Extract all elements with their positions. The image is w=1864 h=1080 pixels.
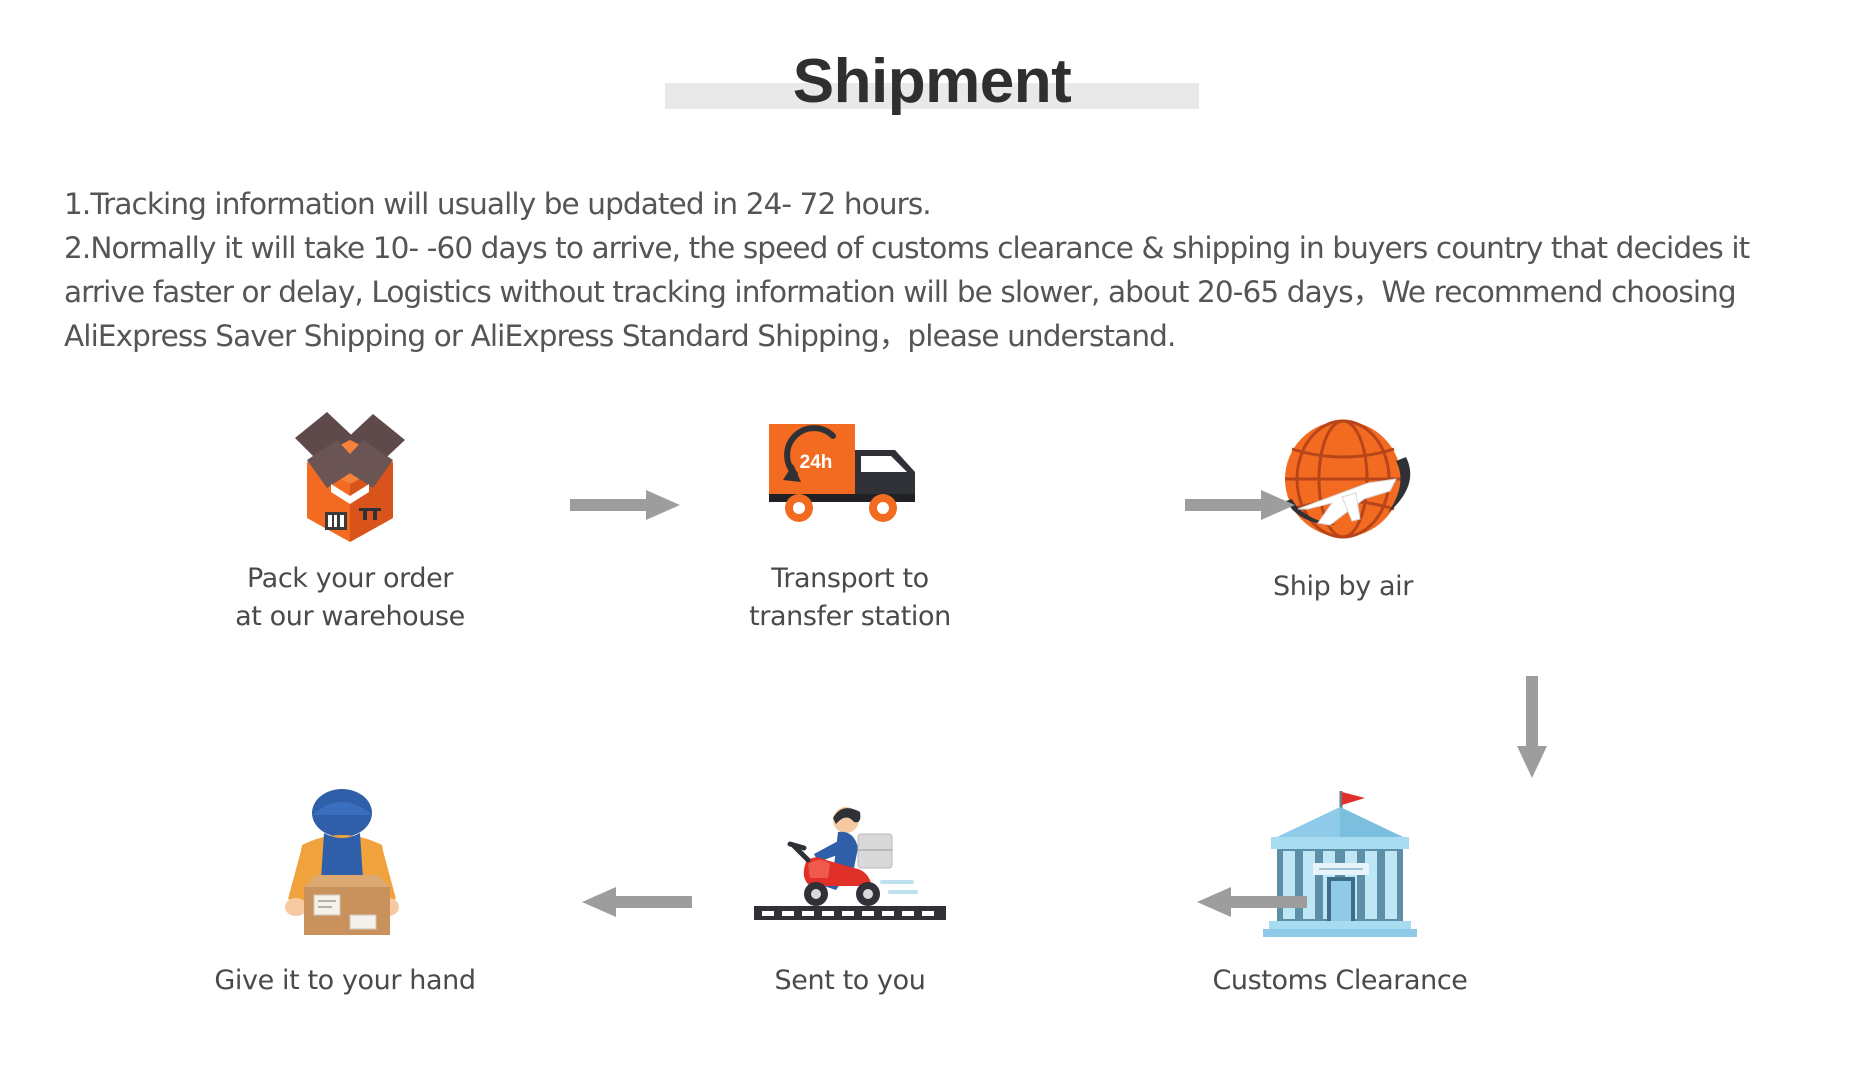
flow-step-label: Ship by air — [1193, 568, 1493, 606]
globe-airplane-icon — [1193, 408, 1493, 558]
flow-step-label: Pack your order at our warehouse — [200, 560, 500, 636]
arrow-right-2 — [1185, 488, 1297, 522]
flow-step-label: Sent to you — [700, 962, 1000, 1000]
page-title-block: Shipment — [0, 46, 1864, 138]
note-line-2: 2.Normally it will take 10- -60 days to … — [64, 226, 1804, 358]
flow-row-1: Pack your order at our warehouse — [0, 400, 1864, 630]
arrow-right-1 — [570, 488, 682, 522]
flow-step-transport: 24h Transport to transfer station — [700, 400, 1000, 636]
shipment-flow-diagram: Pack your order at our warehouse — [0, 400, 1864, 1020]
courier-handing-parcel-icon — [195, 790, 495, 940]
flow-step-label: Transport to transfer station — [700, 560, 1000, 636]
scooter-delivery-icon — [700, 790, 1000, 940]
arrow-left-1 — [580, 885, 692, 919]
shipment-infographic: Shipment 1.Tracking information will usu… — [0, 0, 1864, 1080]
flow-step-pack-order: Pack your order at our warehouse — [200, 400, 500, 636]
shipping-notes: 1.Tracking information will usually be u… — [64, 182, 1804, 358]
arrow-left-2 — [1195, 885, 1307, 919]
open-box-icon — [200, 400, 500, 550]
page-title: Shipment — [793, 47, 1071, 116]
flow-step-handing-parcel: Give it to your hand — [195, 790, 495, 1000]
delivery-truck-24h-icon: 24h — [700, 400, 1000, 550]
flow-step-sent-to-you: Sent to you — [700, 790, 1000, 1000]
note-line-1: 1.Tracking information will usually be u… — [64, 182, 1804, 226]
svg-text:24h: 24h — [799, 452, 832, 473]
flow-step-label: Customs Clearance — [1190, 962, 1490, 1000]
flow-row-2: Give it to your hand — [0, 790, 1864, 1020]
title-inner: Shipment — [793, 46, 1071, 117]
flow-step-label: Give it to your hand — [195, 962, 495, 1000]
arrow-down-1 — [1515, 676, 1549, 780]
